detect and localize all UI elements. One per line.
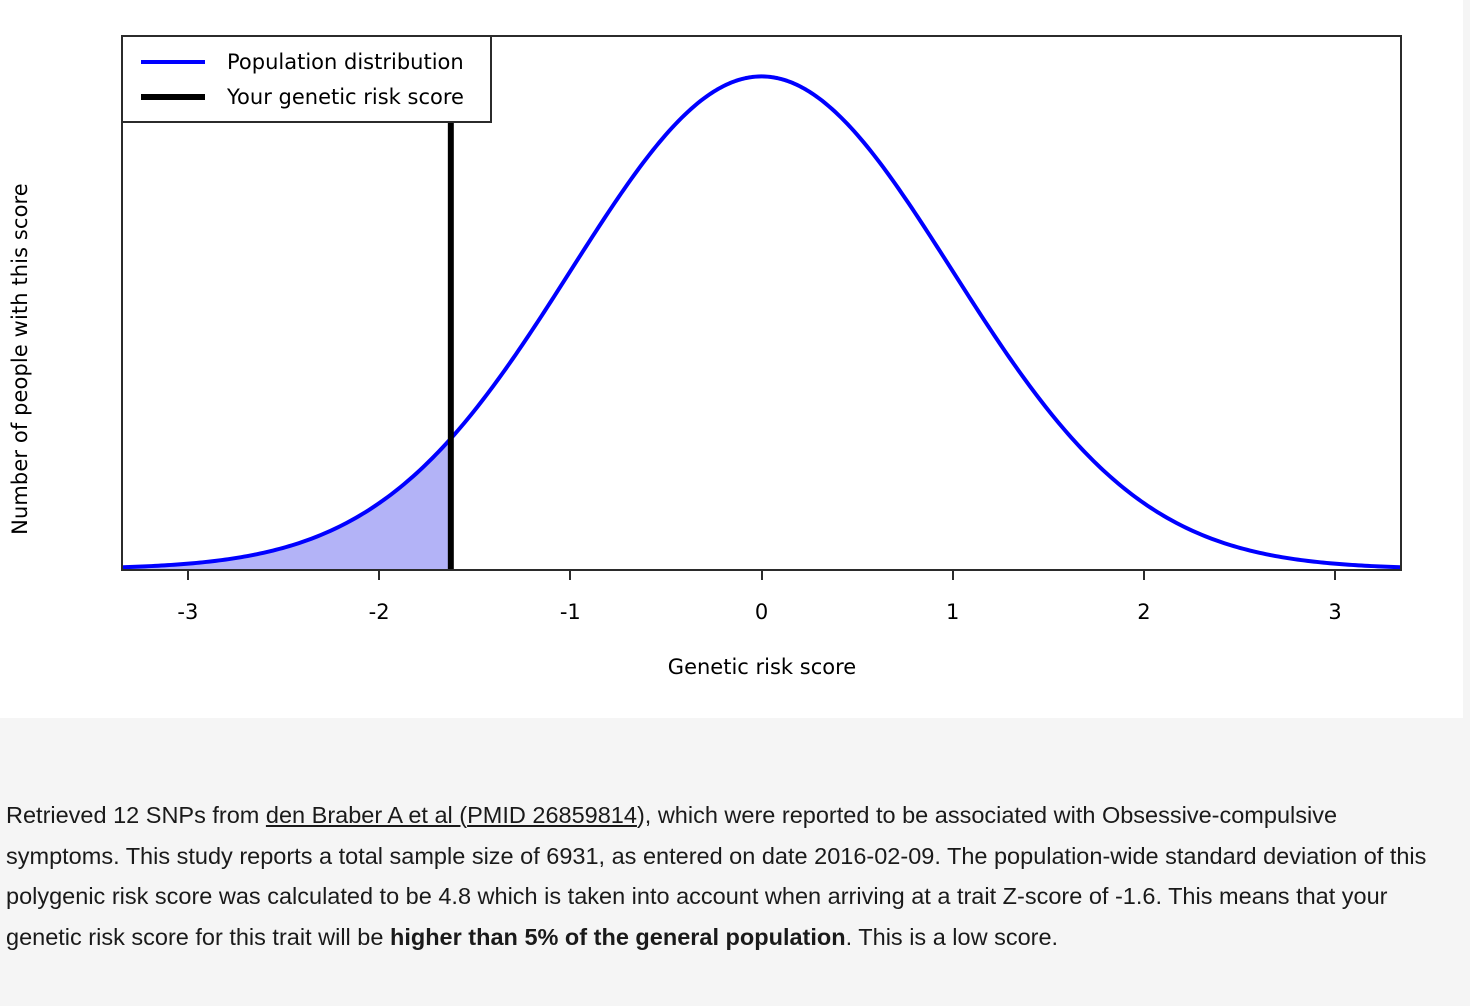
legend-item-your-genetic-risk-score: Your genetic risk score [123,79,490,114]
x-tick-mark [569,571,571,580]
result-description: Retrieved 12 SNPs from den Braber A et a… [0,795,1440,957]
x-tick-label: -3 [158,600,218,624]
x-tick-label: -1 [540,600,600,624]
x-tick-mark [761,571,763,580]
line-swatch-icon [141,60,205,64]
x-tick-mark [1143,571,1145,580]
x-tick-label: 1 [923,600,983,624]
description-segment-3: . This is a low score. [846,924,1058,950]
pmid-link[interactable]: PMID 26859814 [467,802,637,828]
study-citation-link[interactable]: den Braber A et al ( [266,802,467,828]
chart-figure: Number of people with this score -3-2-10… [0,0,1463,718]
legend-label: Your genetic risk score [227,85,464,109]
chart-legend: Population distribution Your genetic ris… [121,35,492,123]
x-tick-label: -2 [349,600,409,624]
percentile-highlight: higher than 5% of the general population [390,924,846,950]
x-tick-mark [378,571,380,580]
shaded-percentile-area [123,439,451,569]
x-tick-mark [1334,571,1336,580]
x-tick-label: 0 [732,600,792,624]
y-axis-label-text: Number of people with this score [8,183,32,535]
x-tick-mark [187,571,189,580]
x-tick-label: 2 [1114,600,1174,624]
legend-item-population-distribution: Population distribution [123,44,490,79]
x-tick-mark [952,571,954,580]
legend-label: Population distribution [227,50,464,74]
population-distribution-curve [123,76,1400,567]
description-segment-1: Retrieved 12 SNPs from [6,802,266,828]
x-axis-label: Genetic risk score [121,655,1403,679]
y-axis-label: Number of people with this score [0,0,40,718]
line-swatch-icon [141,94,205,100]
x-tick-label: 3 [1305,600,1365,624]
